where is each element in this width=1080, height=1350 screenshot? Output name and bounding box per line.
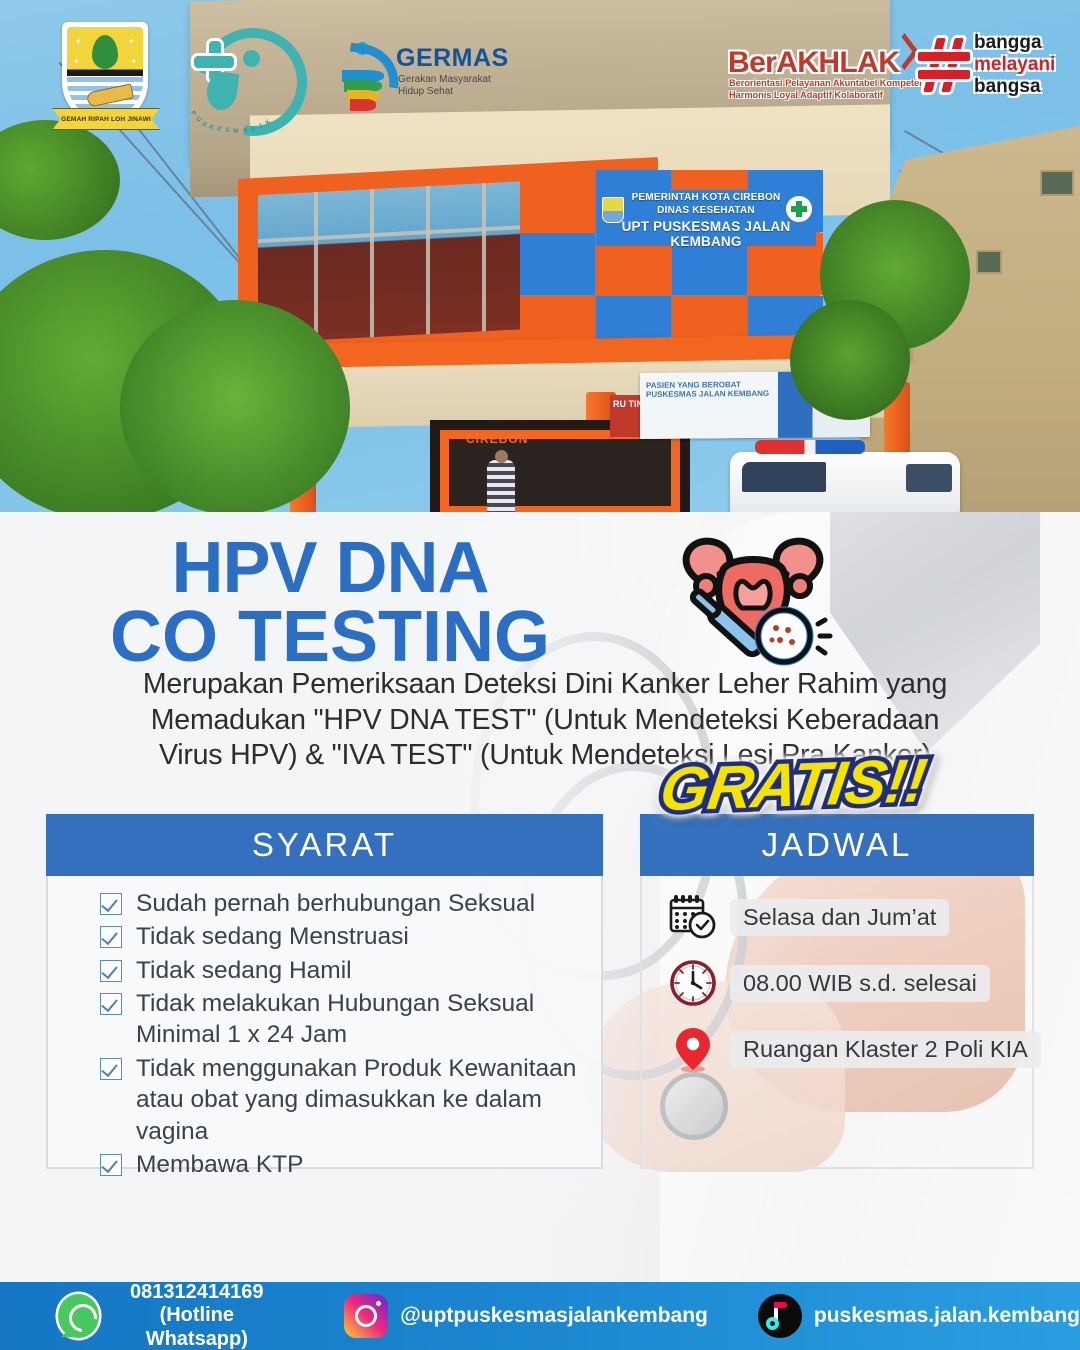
syarat-heading: SYARAT [252,826,397,864]
jadwal-day-text: Selasa dan Jum’at [730,899,949,936]
whatsapp-label: (Hotline Whatsapp) [111,1304,282,1350]
tree-foliage [790,300,910,420]
crest-motto-ribbon: GEMAH RIPAH LOH JINAWI [52,108,160,130]
gratis-badge: GRATIS!! [631,740,954,833]
germas-logo: GERMAS Gerakan Masyarakat Hidup Sehat [340,40,520,110]
syarat-item-label: Tidak menggunakan Produk Kewanitaan atau… [136,1053,583,1147]
berakhlak-title: BerAKHLAK [728,46,899,80]
instagram-handle: @uptpuskesmasjalankembang [400,1304,708,1328]
whatsapp-contact[interactable]: 081312414169 (Hotline Whatsapp) [58,1281,282,1350]
calendar-clock-icon [668,892,718,942]
sign-line-3: UPT PUSKESMAS JALAN KEMBANG [596,219,816,249]
puskesmas-signboard: PEMERINTAH KOTA CIREBON DINAS KESEHATAN … [596,190,816,246]
syarat-item: Tidak melakukan Hubungan Seksual Minimal… [100,988,583,1051]
sign-crest-icon [602,197,624,223]
germas-figure-icon [340,40,392,110]
bmb-line-3: bangsa [974,77,1041,96]
jadwal-heading: JADWAL [762,826,913,864]
jadwal-panel: JADWAL [640,814,1034,1169]
tiktok-contact[interactable]: puskesmas.jalan.kembang [758,1294,1080,1338]
ambulance-windshield [742,462,826,492]
page-title: HPV DNA CO TESTING [0,534,660,672]
checkbox-checked-icon[interactable] [100,1154,122,1176]
sign-line-2: DINAS KESEHATAN [596,205,816,216]
crest-motto-text: GEMAH RIPAH LOH JINAWI [61,116,151,123]
hashtag-icon [918,38,970,92]
checkbox-checked-icon[interactable] [100,993,122,1015]
logo-row: ✦ ✦ ✦ ✦ GEMAH RIPAH LOH JINAWI P U S K E [0,0,1080,150]
berakhlak-values: Berorientasi Pelayanan Akuntabel Kompete… [729,78,925,102]
puskesmas-jalan-kembang-logo: P U S K E S M A S J K [185,24,293,130]
syarat-item: Tidak menggunakan Produk Kewanitaan atau… [100,1053,583,1147]
poster-root: PEMERINTAH KOTA CIREBON DINAS KESEHATAN … [0,0,1080,1350]
title-line-2: CO TESTING [0,603,660,672]
jadwal-time-text: 08.00 WIB s.d. selesai [730,965,990,1002]
tree-foliage [120,300,350,512]
checkbox-checked-icon[interactable] [100,960,122,982]
map-pin-icon [668,1024,718,1074]
contact-footer: 081312414169 (Hotline Whatsapp) @uptpusk… [0,1282,1080,1350]
syarat-item-label: Tidak melakukan Hubungan Seksual Minimal… [136,988,583,1051]
instagram-icon [344,1294,388,1338]
ambulance-lightbar [755,440,865,454]
clock-icon [668,958,718,1008]
syarat-item-label: Membawa KTP [136,1149,303,1180]
neon-sign: CIREBON [466,432,528,446]
syarat-item-label: Tidak sedang Hamil [136,955,352,986]
bmb-line-1: bangga [974,33,1042,52]
whatsapp-number: 081312414169 [111,1281,282,1305]
building-window [976,250,1002,274]
syarat-list: Sudah pernah berhubungan Seksual Tidak s… [100,888,583,1182]
banner-text: PASIEN YANG BEROBATPUSKESMAS JALAN KEMBA… [646,380,769,399]
syarat-item: Tidak sedang Menstruasi [100,921,583,952]
checkbox-checked-icon[interactable] [100,926,122,948]
jadwal-row: Ruangan Klaster 2 Poli KIA [668,1024,1018,1074]
ambulance-side-window [906,464,952,492]
jadwal-row: 08.00 WIB s.d. selesai [668,958,1018,1008]
cirebon-city-crest: ✦ ✦ ✦ ✦ GEMAH RIPAH LOH JINAWI [62,22,148,124]
jadwal-row: Selasa dan Jum’at [668,892,1018,942]
germas-subtitle: Gerakan Masyarakat Hidup Sehat [398,74,491,98]
syarat-item: Membawa KTP [100,1149,583,1180]
whatsapp-text: 081312414169 (Hotline Whatsapp) [111,1281,282,1350]
jadwal-location-text: Ruangan Klaster 2 Poli KIA [730,1031,1041,1068]
health-cross-icon [786,196,812,222]
syarat-item-label: Tidak sedang Menstruasi [136,921,409,952]
whatsapp-icon [58,1294,99,1338]
person-silhouette [487,460,515,512]
syarat-header-bar: SYARAT [46,814,603,876]
checkbox-checked-icon[interactable] [100,893,122,915]
bangga-melayani-bangsa-logo: bangga melayani bangsa [918,24,1076,106]
tiktok-icon [758,1294,802,1338]
building-window [1040,170,1074,196]
syarat-item-label: Sudah pernah berhubungan Seksual [136,888,535,919]
main-content: HPV DNA CO TESTING [0,512,1080,1282]
syarat-item: Sudah pernah berhubungan Seksual [100,888,583,919]
sign-line-1: PEMERINTAH KOTA CIREBON [596,192,816,203]
instagram-contact[interactable]: @uptpuskesmasjalankembang [344,1294,708,1338]
tiktok-handle: puskesmas.jalan.kembang [814,1304,1080,1328]
bmb-line-2: melayani [974,55,1055,74]
checkbox-checked-icon[interactable] [100,1058,122,1080]
title-line-1: HPV DNA [0,534,660,603]
description-line-2: Memadukan "HPV DNA TEST" (Untuk Mendetek… [90,703,1000,739]
syarat-item: Tidak sedang Hamil [100,955,583,986]
berakhlak-logo: BerAKHLAK Berorientasi Pelayanan Akuntab… [728,28,928,108]
uterus-exam-icon [668,528,838,668]
puskesmas-logo-text: P U S K E S M A S J K [187,92,291,128]
gratis-badge-text: GRATIS!! [631,740,954,833]
germas-title: GERMAS [396,44,509,73]
jadwal-list: Selasa dan Jum’at [668,892,1018,1090]
description-line-1: Merupakan Pemeriksaan Deteksi Dini Kanke… [90,667,1000,703]
syarat-panel: SYARAT Sudah pernah berhubungan Seksual … [46,814,603,1169]
